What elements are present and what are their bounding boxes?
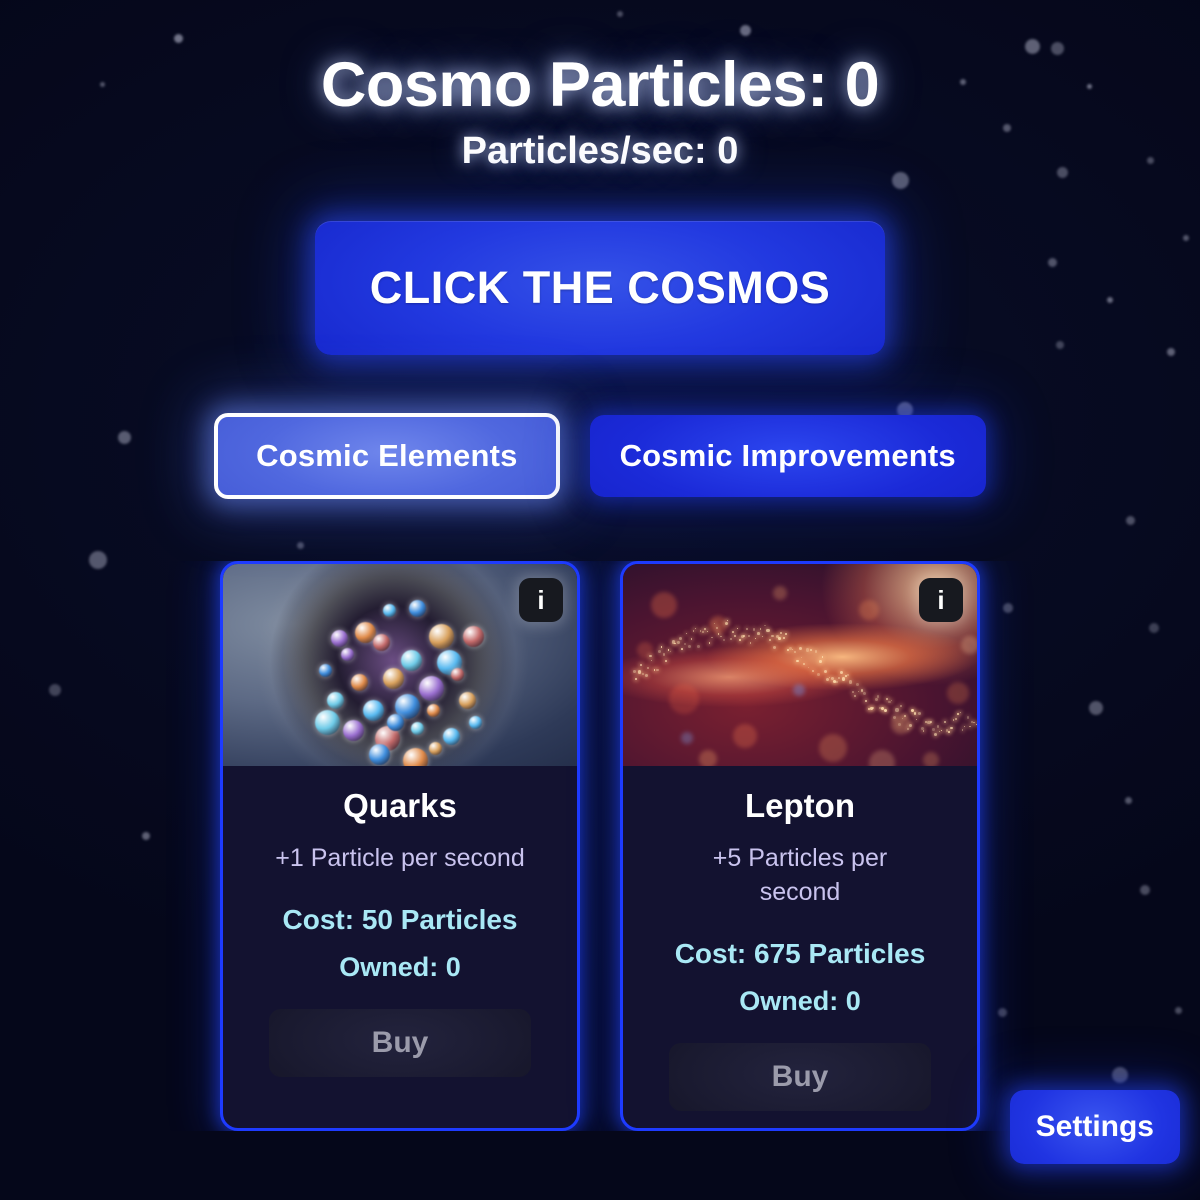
particle-spark <box>838 677 840 679</box>
particle-spark <box>739 639 741 641</box>
particle-spark <box>872 707 874 709</box>
particle-spark <box>918 712 921 715</box>
particle-spark <box>953 719 955 721</box>
particle-spark <box>829 677 830 678</box>
particle-spark <box>865 700 866 701</box>
quark-sphere <box>451 668 464 681</box>
card-cost: Cost: 675 Particles <box>675 938 926 970</box>
particle-spark <box>957 713 959 715</box>
particle-spark <box>976 724 977 726</box>
particle-spark <box>895 708 898 711</box>
quark-sphere <box>369 744 390 765</box>
particle-spark <box>941 730 942 731</box>
buy-button[interactable]: Buy <box>269 1009 531 1077</box>
particle-spark <box>930 721 932 723</box>
quark-sphere <box>459 692 476 709</box>
bokeh-dot <box>859 600 879 620</box>
particle-spark <box>684 643 687 646</box>
particle-spark <box>810 649 812 651</box>
particle-spark <box>695 628 696 629</box>
particle-spark <box>842 677 845 680</box>
particle-spark <box>679 637 682 640</box>
particle-spark <box>746 628 749 631</box>
particle-spark <box>950 727 952 729</box>
card-media-lepton: i <box>623 564 977 766</box>
particle-spark <box>638 670 641 673</box>
particle-spark <box>914 712 917 715</box>
particle-spark <box>778 637 781 640</box>
particle-spark <box>642 673 644 675</box>
particle-spark <box>960 712 962 714</box>
particle-spark <box>923 730 925 732</box>
upgrade-card-quarks[interactable]: i Quarks +1 Particle per second Cost: 50… <box>220 561 580 1131</box>
particle-spark <box>916 719 917 720</box>
buy-button[interactable]: Buy <box>669 1043 931 1111</box>
card-rate: +1 Particle per second <box>275 842 524 876</box>
particle-spark <box>674 643 675 644</box>
particle-spark <box>888 701 891 704</box>
info-icon[interactable]: i <box>919 578 963 622</box>
card-cost: Cost: 50 Particles <box>283 904 518 936</box>
particle-spark <box>934 733 937 736</box>
card-rate: +5 Particles per second <box>685 842 915 910</box>
quark-sphere <box>419 676 444 701</box>
particle-spark <box>773 646 776 649</box>
tab-cosmic-elements[interactable]: Cosmic Elements <box>214 413 559 499</box>
particle-spark <box>711 637 713 639</box>
particle-spark <box>737 628 738 629</box>
particle-spark <box>709 642 711 644</box>
quark-sphere <box>403 748 428 766</box>
bokeh-dot <box>699 750 717 766</box>
card-owned: Owned: 0 <box>739 986 861 1017</box>
particle-spark <box>939 731 940 732</box>
particle-spark <box>748 635 750 637</box>
click-the-cosmos-button[interactable]: CLICK THE COSMOS <box>315 221 885 355</box>
particle-spark <box>633 670 636 673</box>
quark-sphere <box>469 716 482 729</box>
upgrade-card-list: i Quarks +1 Particle per second Cost: 50… <box>0 561 1200 1131</box>
particle-spark <box>962 729 963 730</box>
quark-sphere <box>387 714 404 731</box>
tab-bar: Cosmic Elements Cosmic Improvements <box>0 413 1200 499</box>
quark-sphere <box>327 692 344 709</box>
particle-spark <box>649 655 652 658</box>
particle-spark <box>826 678 829 681</box>
particle-spark <box>898 723 901 726</box>
particle-spark <box>702 631 704 633</box>
particle-spark <box>651 660 652 661</box>
quark-sphere <box>383 604 396 617</box>
particle-spark <box>847 674 849 676</box>
particle-spark <box>819 660 822 663</box>
particle-spark <box>730 638 732 640</box>
card-title: Quarks <box>343 788 457 824</box>
particle-spark <box>840 671 843 674</box>
particle-spark <box>663 653 666 656</box>
particle-spark <box>780 632 782 634</box>
particle-spark <box>771 635 774 638</box>
bokeh-dot <box>869 750 895 766</box>
particle-spark <box>783 637 785 639</box>
score-header: Cosmo Particles: 0 Particles/sec: 0 <box>0 0 1200 173</box>
particle-spark <box>693 630 695 632</box>
particle-spark <box>886 698 888 700</box>
particle-spark <box>762 636 763 637</box>
quark-sphere <box>343 720 364 741</box>
bokeh-dot <box>733 724 757 748</box>
quark-sphere <box>463 626 484 647</box>
particle-spark <box>877 695 880 698</box>
particle-spark <box>720 636 721 637</box>
particle-spark <box>647 667 649 669</box>
particle-spark <box>691 638 693 640</box>
click-button-container: CLICK THE COSMOS <box>0 221 1200 355</box>
quark-sphere <box>443 728 460 745</box>
particle-spark <box>822 656 824 658</box>
particle-spark <box>658 650 661 653</box>
particle-spark <box>863 692 866 695</box>
quark-sphere <box>409 600 426 617</box>
particle-spark <box>900 705 902 707</box>
particle-spark <box>704 628 706 630</box>
particle-spark <box>909 724 912 727</box>
particle-spark <box>755 638 756 639</box>
particle-spark <box>766 629 769 632</box>
particle-spark <box>700 630 701 631</box>
particle-spark <box>743 635 745 637</box>
star-dot <box>892 172 909 189</box>
bokeh-dot <box>793 684 805 696</box>
particle-spark <box>656 669 659 672</box>
particle-spark <box>884 709 887 712</box>
particle-spark <box>969 726 971 728</box>
particle-spark <box>964 726 965 727</box>
particle-spark <box>665 660 667 662</box>
particle-spark <box>769 639 771 641</box>
particle-spark <box>803 663 805 665</box>
particle-spark <box>849 680 852 683</box>
bokeh-dot <box>947 682 969 704</box>
particle-spark <box>808 667 809 668</box>
particle-spark <box>686 633 687 634</box>
particle-spark <box>967 716 970 719</box>
bokeh-dot <box>819 734 847 762</box>
particle-spark <box>727 620 728 621</box>
card-body-quarks: Quarks +1 Particle per second Cost: 50 P… <box>223 766 577 1128</box>
settings-button[interactable]: Settings <box>1010 1090 1180 1164</box>
particle-spark <box>796 660 798 662</box>
particle-spark <box>973 722 974 723</box>
particle-spark <box>707 631 709 633</box>
bokeh-dot <box>651 592 677 618</box>
particle-spark <box>835 681 837 683</box>
particle-spark <box>635 678 636 679</box>
card-body-lepton: Lepton +5 Particles per second Cost: 675… <box>623 766 977 1128</box>
quark-sphere <box>315 710 340 735</box>
bokeh-dot <box>961 636 977 654</box>
particle-spark <box>661 646 662 647</box>
bokeh-dot <box>669 684 699 714</box>
particle-spark <box>716 627 718 629</box>
particle-spark <box>794 651 796 653</box>
quark-sphere <box>363 700 384 721</box>
particle-spark <box>815 650 818 653</box>
card-owned: Owned: 0 <box>339 952 461 983</box>
particle-spark <box>670 651 671 652</box>
particle-spark <box>723 639 725 641</box>
star-dot <box>1126 516 1135 525</box>
particle-spark <box>801 657 803 659</box>
particle-spark <box>812 670 814 672</box>
particle-spark <box>856 683 859 686</box>
particle-spark <box>697 645 700 648</box>
info-icon[interactable]: i <box>519 578 563 622</box>
star-dot <box>297 542 304 549</box>
page-title: Cosmo Particles: 0 <box>0 52 1200 118</box>
particle-spark <box>640 664 642 666</box>
particle-spark <box>806 648 809 651</box>
particle-spark <box>824 670 827 673</box>
quark-sphere <box>429 742 442 755</box>
quark-sphere <box>373 634 390 651</box>
bokeh-dot <box>681 732 693 744</box>
bokeh-dot <box>709 616 727 634</box>
particle-spark <box>932 728 935 731</box>
upgrade-card-lepton[interactable]: i Lepton +5 Particles per second Cost: 6… <box>620 561 980 1131</box>
particle-spark <box>645 674 648 677</box>
tab-cosmic-improvements[interactable]: Cosmic Improvements <box>590 415 986 497</box>
particle-spark <box>734 635 736 637</box>
particle-spark <box>944 721 946 723</box>
quark-sphere <box>319 664 332 677</box>
particle-spark <box>688 645 691 648</box>
particle-spark <box>955 718 957 720</box>
game-screen: Cosmo Particles: 0 Particles/sec: 0 CLIC… <box>0 0 1200 1200</box>
particle-spark <box>757 632 760 635</box>
particle-spark <box>858 691 859 692</box>
particle-spark <box>732 631 734 633</box>
particle-spark <box>753 628 756 631</box>
quark-sphere <box>427 704 440 717</box>
card-media-quarks: i <box>223 564 577 766</box>
particle-spark <box>875 698 878 701</box>
particle-spark <box>764 625 766 627</box>
quark-sphere <box>411 722 424 735</box>
particle-spark <box>799 647 802 650</box>
quark-sphere <box>383 668 404 689</box>
quark-sphere <box>331 630 348 647</box>
quark-sphere <box>341 648 354 661</box>
particle-spark <box>792 649 793 650</box>
particle-spark <box>785 633 787 635</box>
particle-spark <box>937 725 940 728</box>
bokeh-dot <box>923 752 939 766</box>
particle-spark <box>681 648 683 650</box>
particle-spark <box>852 691 854 693</box>
particle-spark <box>948 731 950 733</box>
particle-spark <box>725 622 728 625</box>
particle-spark <box>854 695 856 697</box>
particle-spark <box>677 641 680 644</box>
quark-sphere <box>429 624 454 649</box>
quark-sphere <box>401 650 422 671</box>
particles-per-second-label: Particles/sec: 0 <box>0 130 1200 173</box>
particle-spark <box>817 673 820 676</box>
bokeh-dot <box>773 586 787 600</box>
particle-spark <box>750 642 751 643</box>
particle-spark <box>760 628 762 630</box>
card-title: Lepton <box>745 788 855 824</box>
particle-spark <box>893 716 896 719</box>
quark-sphere <box>351 674 368 691</box>
